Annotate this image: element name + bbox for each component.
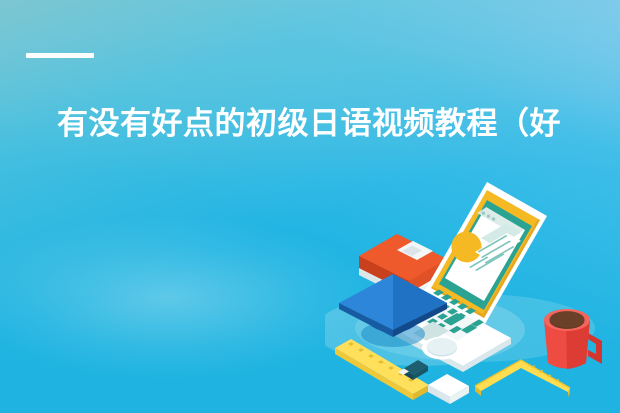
window-dot-3	[492, 217, 495, 220]
page-title: 有没有好点的初级日语视频教程（好	[57, 105, 620, 143]
eraser	[428, 374, 469, 404]
coffee-mug	[544, 309, 602, 369]
promo-banner: 有没有好点的初级日语视频教程（好	[0, 0, 620, 413]
isometric-study-desk-illustration	[325, 178, 620, 413]
window-dot-2	[487, 214, 490, 217]
decorative-rule	[26, 53, 94, 58]
window-dot-1	[482, 212, 485, 215]
